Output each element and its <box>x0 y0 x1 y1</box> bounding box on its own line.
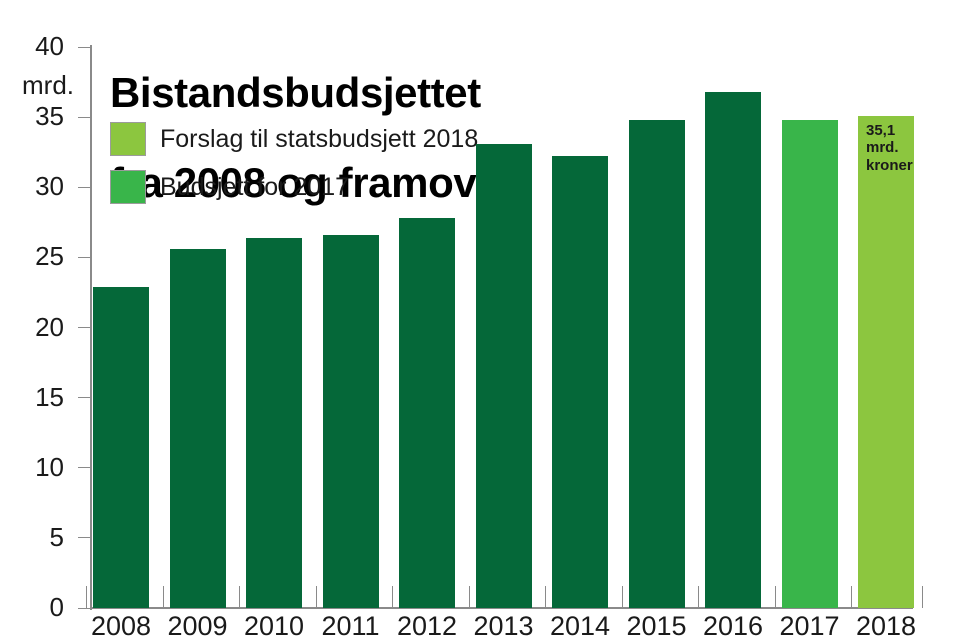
bar-2009[interactable] <box>170 249 226 608</box>
y-tick-label-30: 30 <box>8 173 64 199</box>
y-tick-mark-40 <box>78 47 92 48</box>
y-tick-label-0: 0 <box>8 594 64 620</box>
bar-2016[interactable] <box>705 92 761 608</box>
x-tick-mark-2008 <box>86 586 87 608</box>
y-tick-label-35: 35 <box>8 103 64 129</box>
x-tick-label-2018: 2018 <box>841 612 931 640</box>
bar-2013[interactable] <box>476 144 532 608</box>
y-tick-label-20: 20 <box>8 314 64 340</box>
y-tick-mark-10 <box>78 467 92 468</box>
plot-area: 35,1 mrd. kroner <box>93 40 912 608</box>
y-tick-mark-25 <box>78 257 92 258</box>
bar-2014[interactable] <box>552 156 608 608</box>
y-tick-label-5: 5 <box>8 524 64 550</box>
y-tick-label-15: 15 <box>8 384 64 410</box>
bar-2008[interactable] <box>93 287 149 608</box>
bar-2015[interactable] <box>629 120 685 608</box>
y-tick-mark-30 <box>78 187 92 188</box>
y-tick-label-10: 10 <box>8 454 64 480</box>
y-tick-mark-35 <box>78 117 92 118</box>
bar-2011[interactable] <box>323 235 379 608</box>
bar-2017[interactable] <box>782 120 838 608</box>
y-tick-mark-5 <box>78 537 92 538</box>
bar-2012[interactable] <box>399 218 455 608</box>
bar-2010[interactable] <box>246 238 302 608</box>
bar-2018[interactable]: 35,1 mrd. kroner <box>858 116 914 608</box>
y-tick-label-40: 40 <box>8 33 64 59</box>
y-axis-unit-label: mrd. <box>12 72 74 98</box>
y-tick-mark-15 <box>78 397 92 398</box>
bar-annotation-2018: 35,1 mrd. kroner <box>866 122 913 175</box>
y-tick-label-25: 25 <box>8 243 64 269</box>
x-tick-mark-end <box>922 586 923 608</box>
y-tick-mark-20 <box>78 327 92 328</box>
bar-chart: Bistandsbudsjettet fra 2008 og framover … <box>0 0 960 642</box>
